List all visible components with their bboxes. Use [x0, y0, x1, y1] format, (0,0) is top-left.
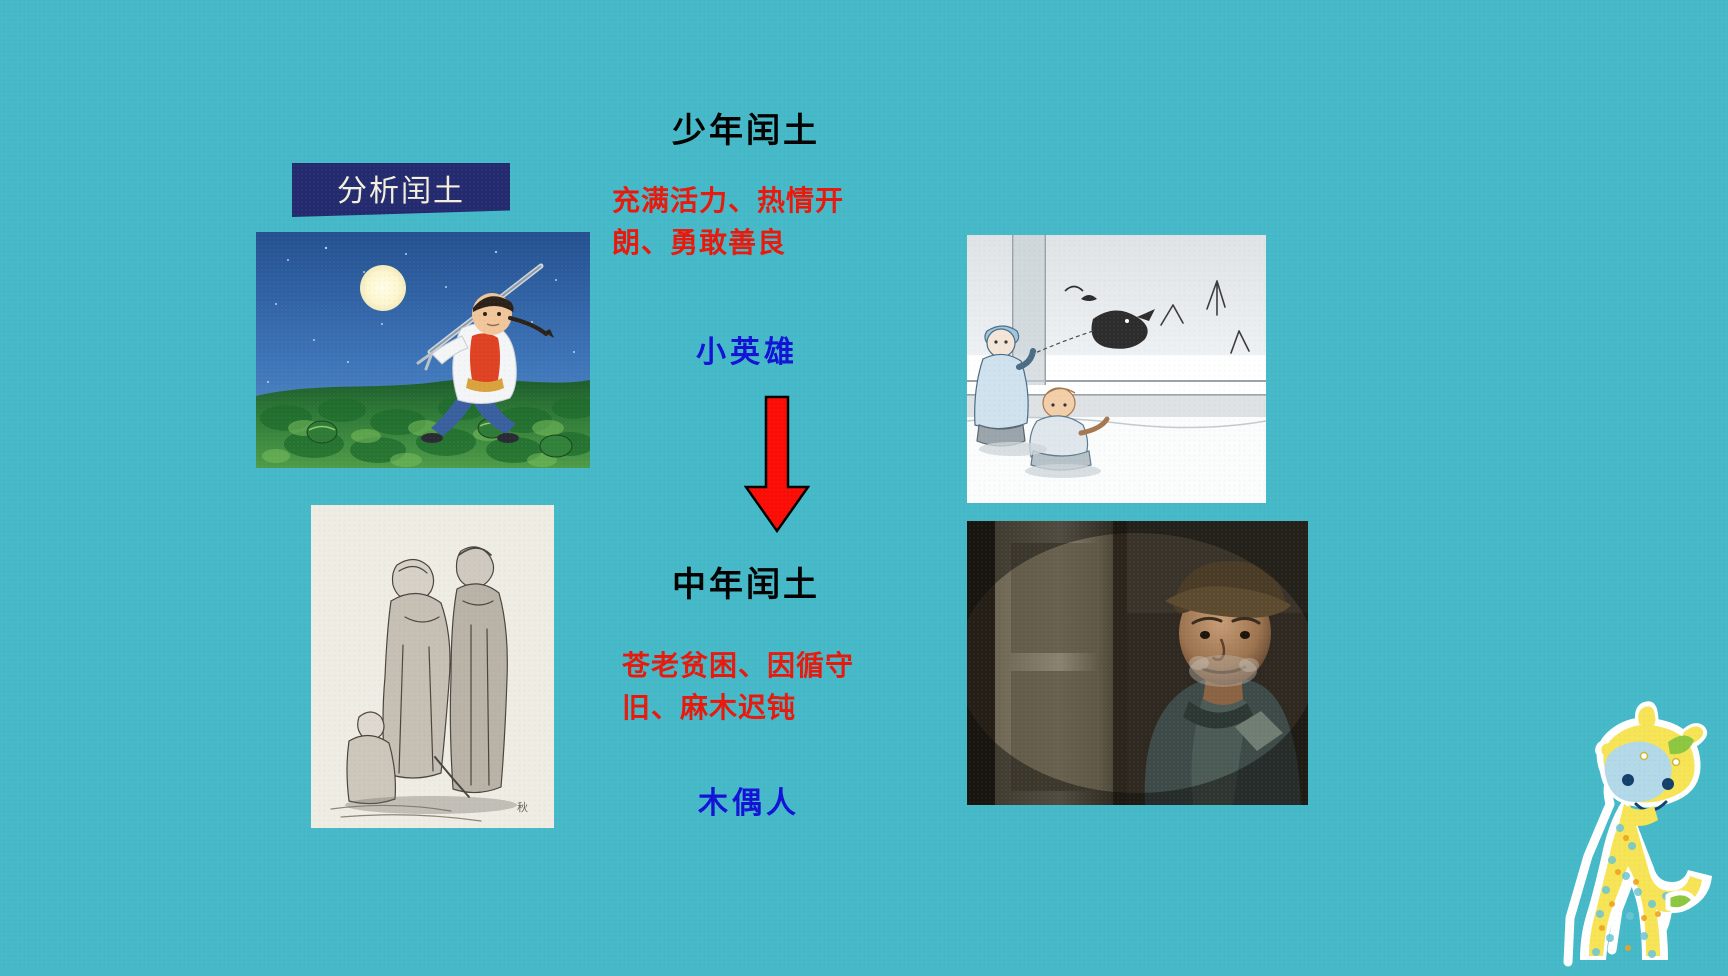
background-texture — [0, 0, 1728, 972]
giraffe-sticker — [1540, 700, 1728, 972]
traits-young-runtu: 充满活力、热情开朗、勇敢善良 — [612, 180, 887, 264]
heading-middle-aged-runtu: 中年闰土 — [672, 557, 820, 606]
down-arrow — [744, 395, 810, 535]
svg-text:秋: 秋 — [517, 800, 528, 814]
image-runtu-snow-bird-trap — [967, 235, 1266, 503]
image-runtu-old-man-photo — [967, 521, 1308, 805]
runtu-old-man-photograph — [967, 521, 1308, 805]
image-runtu-meets-xunge: 秋 — [311, 505, 554, 828]
snow-bird-trap-line-drawing — [967, 235, 1266, 503]
giraffe-icon — [1540, 700, 1728, 972]
banner-label: 分析闰土 — [337, 166, 465, 210]
runtu-meets-xunge-sketch: 秋 — [311, 505, 554, 828]
runtu-melon-field-illustration — [256, 232, 590, 468]
section-banner-analyze-runtu: 分析闰土 — [292, 163, 510, 217]
verdict-young-runtu: 小英雄 — [696, 327, 798, 371]
heading-young-runtu: 少年闰土 — [672, 103, 820, 152]
down-arrow-icon — [744, 395, 810, 535]
image-runtu-melon-field — [256, 232, 590, 468]
slide-canvas: 分析闰土 — [0, 0, 1728, 972]
traits-middle-aged-runtu: 苍老贫困、因循守旧、麻木迟钝 — [622, 645, 897, 729]
verdict-middle-aged-runtu: 木偶人 — [698, 778, 800, 822]
